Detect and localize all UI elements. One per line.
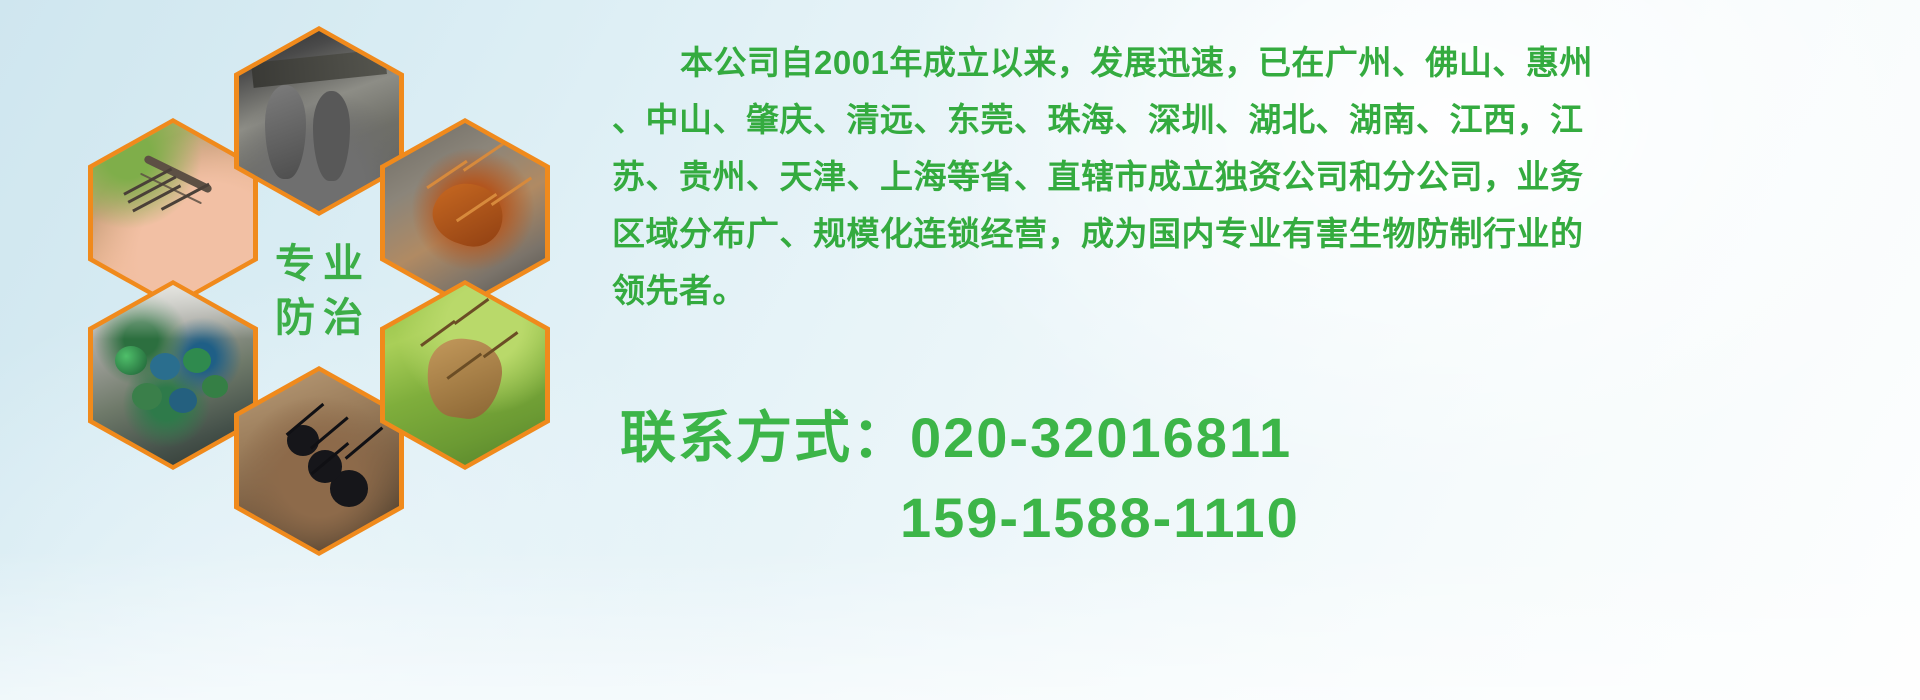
- collage-center-slogan: 专业 防治: [234, 196, 404, 386]
- hex-inner-ant: [239, 371, 399, 551]
- company-description: 本公司自2001年成立以来，发展迅速，已在广州、佛山、惠州 、中山、肇庆、清远、…: [612, 34, 1902, 319]
- description-line-4: 区域分布广、规模化连锁经营，成为国内专业有害生物防制行业的: [612, 205, 1902, 262]
- hex-inner-rats: [239, 31, 399, 211]
- mosquito-icon: [93, 123, 253, 303]
- description-line-1: 本公司自2001年成立以来，发展迅速，已在广州、佛山、惠州: [612, 34, 1902, 91]
- hex-inner-mosquito: [93, 123, 253, 303]
- ant-icon: [239, 371, 399, 551]
- hexagon-photo-collage: 专业 防治: [88, 8, 588, 568]
- fly-icon: [93, 285, 253, 465]
- hex-inner-stink-bug: [385, 285, 545, 465]
- contact-phone-secondary[interactable]: 159-1588-1110: [620, 478, 1820, 558]
- contact-block: 联系方式：020-32016811 159-1588-1110: [620, 398, 1820, 558]
- hex-cell-stink-bug: [380, 280, 550, 470]
- hex-inner-cockroach: [385, 123, 545, 303]
- contact-phone-primary[interactable]: 联系方式：020-32016811: [620, 398, 1820, 478]
- description-line-5: 领先者。: [612, 262, 1902, 319]
- hex-cell-flies: [88, 280, 258, 470]
- hex-cell-ant: [234, 366, 404, 556]
- hex-cell-cockroach: [380, 118, 550, 308]
- description-line-3: 苏、贵州、天津、上海等省、直辖市成立独资公司和分公司，业务: [612, 148, 1902, 205]
- hex-cell-mosquito: [88, 118, 258, 308]
- stink-bug-icon: [385, 285, 545, 465]
- slogan-line-2: 防治: [267, 298, 371, 338]
- rat-icon: [239, 31, 399, 211]
- slogan-line-1: 专业: [267, 244, 371, 284]
- cockroach-icon: [385, 123, 545, 303]
- pest-control-banner: 专业 防治 本公司自2001年成立以来，发展迅速，已在广州、佛山、惠州 、中山、…: [0, 0, 1920, 700]
- hex-inner-flies: [93, 285, 253, 465]
- hex-cell-rats: [234, 26, 404, 216]
- description-line-2: 、中山、肇庆、清远、东莞、珠海、深圳、湖北、湖南、江西，江: [612, 91, 1902, 148]
